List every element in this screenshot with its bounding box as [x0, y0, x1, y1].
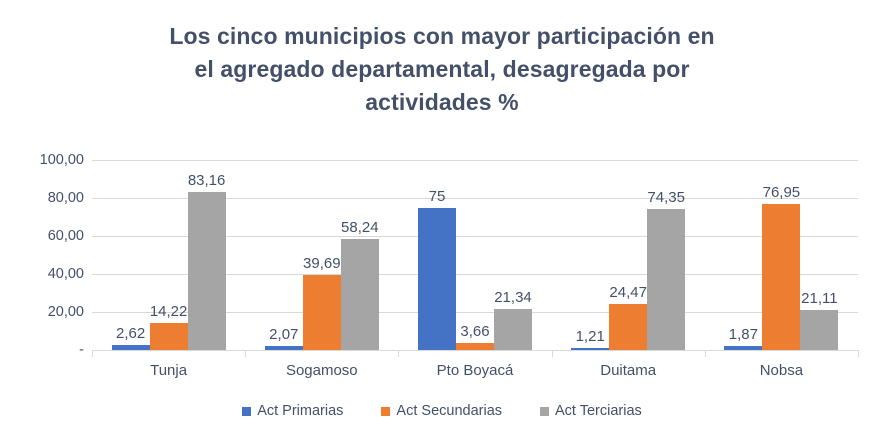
bar[interactable]	[456, 343, 494, 350]
bar-value-label: 24,47	[609, 284, 647, 301]
category-axis-label: Duitama	[600, 362, 656, 379]
y-axis-tick-label: -	[10, 342, 84, 358]
category-axis-label: Pto Boyacá	[437, 362, 514, 379]
category-axis-tick	[398, 350, 399, 357]
legend-entry[interactable]: Act Primarias	[242, 403, 343, 419]
category-axis-tick	[858, 350, 859, 357]
category-axis-label: Sogamoso	[286, 362, 358, 379]
category-axis-tick	[705, 350, 706, 357]
legend-label: Act Secundarias	[396, 403, 502, 419]
bar-value-label: 2,62	[116, 325, 145, 342]
category-axis-tick	[245, 350, 246, 357]
bar-value-label: 75	[429, 188, 446, 205]
bar[interactable]	[609, 304, 647, 350]
bar-value-label: 1,21	[576, 328, 605, 345]
bar[interactable]	[494, 309, 532, 350]
bar-value-label: 14,22	[150, 303, 188, 320]
plot-area: 2,6214,2283,162,0739,6958,24753,6621,341…	[92, 160, 858, 350]
bar[interactable]	[762, 204, 800, 350]
bar[interactable]	[188, 192, 226, 350]
chart-title-line-3: actividades %	[92, 86, 792, 119]
legend-label: Act Terciarias	[555, 403, 642, 419]
y-axis-tick-label: 40,00	[10, 266, 84, 282]
category-axis-tick	[92, 350, 93, 357]
bar-value-label: 83,16	[188, 172, 226, 189]
legend-swatch-icon	[381, 407, 390, 416]
chart-title-line-2: el agregado departamental, desagregada p…	[92, 53, 792, 86]
bar[interactable]	[800, 310, 838, 350]
chart-title-line-1: Los cinco municipios con mayor participa…	[92, 20, 792, 53]
bar-group: 2,6214,2283,16	[92, 160, 245, 350]
category-axis-label: Nobsa	[760, 362, 803, 379]
bar-group: 2,0739,6958,24	[245, 160, 398, 350]
legend-swatch-icon	[540, 407, 549, 416]
legend-swatch-icon	[242, 407, 251, 416]
bar[interactable]	[341, 239, 379, 350]
bar-value-label: 74,35	[647, 189, 685, 206]
bar-group: 1,2124,4774,35	[552, 160, 705, 350]
category-axis-label: Tunja	[150, 362, 187, 379]
legend-entry[interactable]: Act Secundarias	[381, 403, 502, 419]
y-axis-tick-label: 20,00	[10, 304, 84, 320]
y-axis: -20,0040,0060,0080,00100,00	[0, 0, 84, 447]
bar[interactable]	[150, 323, 188, 350]
bar-value-label: 21,11	[801, 290, 837, 307]
bar-value-label: 2,07	[269, 326, 298, 343]
y-axis-tick-label: 60,00	[10, 228, 84, 244]
bar-chart: Los cinco municipios con mayor participa…	[0, 0, 884, 447]
chart-title: Los cinco municipios con mayor participa…	[92, 20, 792, 119]
y-axis-tick-label: 100,00	[10, 152, 84, 168]
legend-entry[interactable]: Act Terciarias	[540, 403, 642, 419]
legend-label: Act Primarias	[257, 403, 343, 419]
bar-value-label: 1,87	[729, 326, 758, 343]
y-axis-tick-label: 80,00	[10, 190, 84, 206]
bar-value-label: 21,34	[494, 289, 532, 306]
bar[interactable]	[418, 208, 456, 351]
category-axis-line	[92, 350, 858, 351]
bar-value-label: 58,24	[341, 219, 379, 236]
bar[interactable]	[303, 275, 341, 350]
category-axis-tick	[552, 350, 553, 357]
bar[interactable]	[647, 209, 685, 350]
bar-value-label: 39,69	[303, 255, 341, 272]
bar-value-label: 3,66	[460, 323, 489, 340]
bar-group: 1,8776,9521,11	[705, 160, 858, 350]
chart-legend: Act PrimariasAct SecundariasAct Terciari…	[0, 403, 884, 419]
bar-value-label: 76,95	[763, 184, 801, 201]
bar-group: 753,6621,34	[398, 160, 551, 350]
